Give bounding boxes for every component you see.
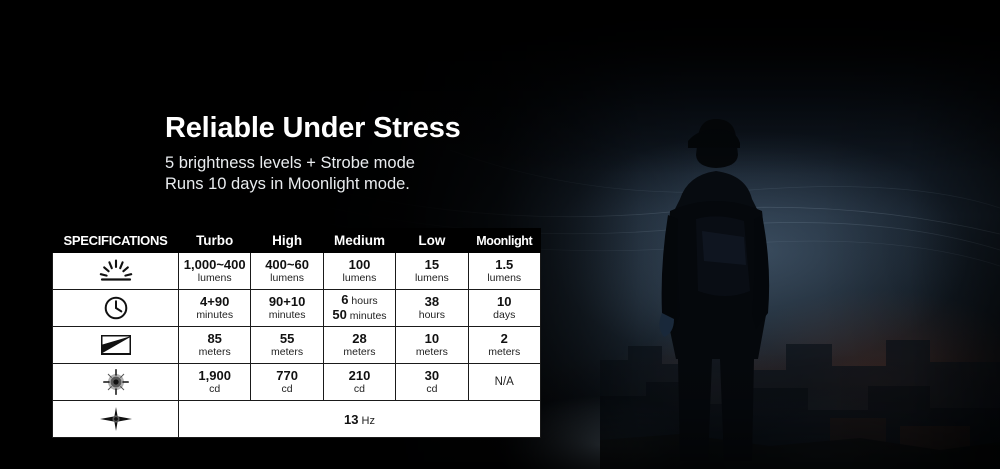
row-icon-cell-brightness bbox=[53, 253, 179, 290]
column-header-moonlight: Moonlight bbox=[468, 229, 540, 253]
cell-intensity-low: 30 cd bbox=[396, 364, 468, 401]
row-icon-cell-beam-distance bbox=[53, 327, 179, 364]
page-title: Reliable Under Stress bbox=[165, 112, 461, 145]
runtime-clock-icon bbox=[103, 295, 129, 321]
cell-intensity-moonlight: N/A bbox=[468, 364, 540, 401]
cell-distance-turbo: 85 meters bbox=[179, 327, 251, 364]
cell-runtime-high: 90+10 minutes bbox=[251, 290, 323, 327]
brightness-sunburst-icon bbox=[98, 259, 134, 283]
page-subtitle: 5 brightness levels + Strobe mode Runs 1… bbox=[165, 153, 415, 195]
cell-distance-low: 10 meters bbox=[396, 327, 468, 364]
promo-banner: Reliable Under Stress 5 brightness level… bbox=[0, 0, 1000, 469]
column-header-turbo: Turbo bbox=[179, 229, 251, 253]
column-header-specifications: SPECIFICATIONS bbox=[53, 229, 179, 253]
cell-lumens-medium: 100 lumens bbox=[323, 253, 395, 290]
specifications-table: SPECIFICATIONS Turbo High Medium Low Moo… bbox=[52, 228, 541, 438]
cell-intensity-medium: 210 cd bbox=[323, 364, 395, 401]
beam-distance-icon bbox=[100, 334, 132, 356]
cell-intensity-high: 770 cd bbox=[251, 364, 323, 401]
cell-strobe-frequency: 13 Hz bbox=[179, 401, 541, 438]
cell-lumens-turbo: 1,000~400 lumens bbox=[179, 253, 251, 290]
cell-lumens-high: 400~60 lumens bbox=[251, 253, 323, 290]
cell-runtime-medium: 6 hours 50 minutes bbox=[323, 290, 395, 327]
strobe-frequency-icon bbox=[99, 406, 133, 432]
cell-distance-high: 55 meters bbox=[251, 327, 323, 364]
subtitle-line-1: 5 brightness levels + Strobe mode bbox=[165, 153, 415, 174]
cell-intensity-turbo: 1,900 cd bbox=[179, 364, 251, 401]
row-icon-cell-strobe bbox=[53, 401, 179, 438]
cell-distance-medium: 28 meters bbox=[323, 327, 395, 364]
row-icon-cell-peak-intensity bbox=[53, 364, 179, 401]
peak-beam-intensity-icon bbox=[103, 369, 129, 395]
cell-runtime-moonlight: 10 days bbox=[468, 290, 540, 327]
table-row: 1,000~400 lumens 400~60 lumens 100 lumen… bbox=[53, 253, 541, 290]
cell-runtime-turbo: 4+90 minutes bbox=[179, 290, 251, 327]
column-header-medium: Medium bbox=[323, 229, 395, 253]
table-row: 1,900 cd 770 cd 210 cd 30 cd N/A bbox=[53, 364, 541, 401]
table-header: SPECIFICATIONS Turbo High Medium Low Moo… bbox=[53, 229, 541, 253]
cell-runtime-low: 38 hours bbox=[396, 290, 468, 327]
table-row: 13 Hz bbox=[53, 401, 541, 438]
subtitle-line-2: Runs 10 days in Moonlight mode. bbox=[165, 174, 415, 195]
column-header-low: Low bbox=[396, 229, 468, 253]
table-body: 1,000~400 lumens 400~60 lumens 100 lumen… bbox=[53, 253, 541, 438]
table-row: 85 meters 55 meters 28 meters 10 meters … bbox=[53, 327, 541, 364]
cell-lumens-moonlight: 1.5 lumens bbox=[468, 253, 540, 290]
column-header-high: High bbox=[251, 229, 323, 253]
cell-lumens-low: 15 lumens bbox=[396, 253, 468, 290]
row-icon-cell-runtime bbox=[53, 290, 179, 327]
cell-distance-moonlight: 2 meters bbox=[468, 327, 540, 364]
table-row: 4+90 minutes 90+10 minutes 6 hours 50 mi… bbox=[53, 290, 541, 327]
table-header-row: SPECIFICATIONS Turbo High Medium Low Moo… bbox=[53, 229, 541, 253]
